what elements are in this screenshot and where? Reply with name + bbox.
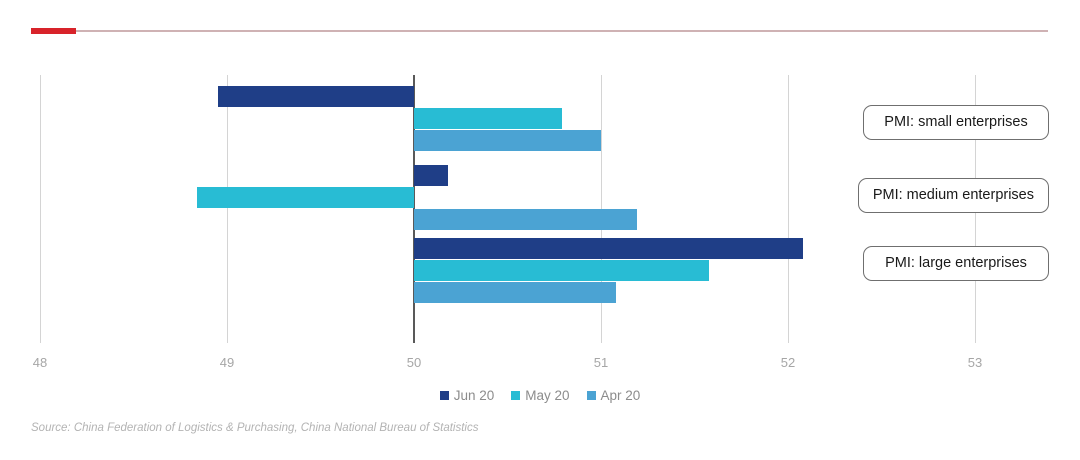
gridline — [788, 75, 789, 343]
x-axis-tick-label: 51 — [594, 355, 608, 370]
legend-item: May 20 — [511, 388, 569, 403]
bar — [414, 282, 616, 303]
legend-swatch-icon — [587, 391, 596, 400]
gridline — [227, 75, 228, 343]
bar — [414, 130, 601, 151]
chart-legend: Jun 20May 20Apr 20 — [0, 388, 1080, 403]
bar — [414, 260, 709, 281]
legend-item: Apr 20 — [587, 388, 641, 403]
bar — [218, 86, 414, 107]
legend-label: Jun 20 — [454, 388, 495, 403]
legend-item: Jun 20 — [440, 388, 495, 403]
legend-label: Apr 20 — [601, 388, 641, 403]
source-note: Source: China Federation of Logistics & … — [31, 422, 478, 434]
bar — [414, 238, 803, 259]
x-axis-tick-label: 53 — [968, 355, 982, 370]
category-label-small: PMI: small enterprises — [863, 105, 1049, 140]
category-label-large: PMI: large enterprises — [863, 246, 1049, 281]
bar — [414, 108, 562, 129]
legend-label: May 20 — [525, 388, 569, 403]
bar — [197, 187, 414, 208]
x-axis-tick-label: 50 — [407, 355, 421, 370]
legend-swatch-icon — [511, 391, 520, 400]
bar — [414, 165, 448, 186]
chart-page: 484950515253PMI: small enterprisesPMI: m… — [0, 0, 1080, 460]
x-axis-tick-label: 48 — [33, 355, 47, 370]
x-axis-tick-label: 52 — [781, 355, 795, 370]
category-label-medium: PMI: medium enterprises — [858, 178, 1049, 213]
gridline — [40, 75, 41, 343]
bar — [414, 209, 637, 230]
x-axis-tick-label: 49 — [220, 355, 234, 370]
legend-swatch-icon — [440, 391, 449, 400]
